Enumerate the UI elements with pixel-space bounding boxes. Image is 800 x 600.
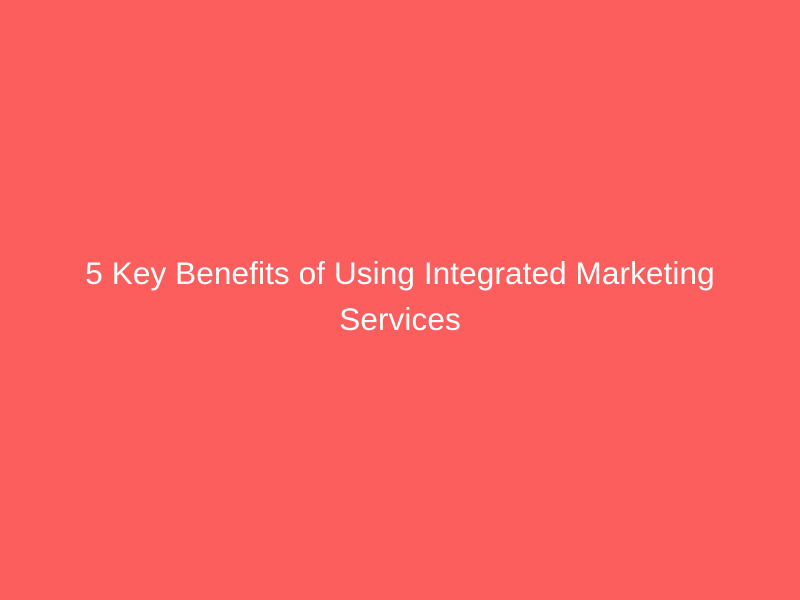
hero-text-container: 5 Key Benefits of Using Integrated Marke… (60, 250, 740, 342)
page-title: 5 Key Benefits of Using Integrated Marke… (60, 250, 740, 342)
hero-banner: 5 Key Benefits of Using Integrated Marke… (0, 0, 800, 600)
